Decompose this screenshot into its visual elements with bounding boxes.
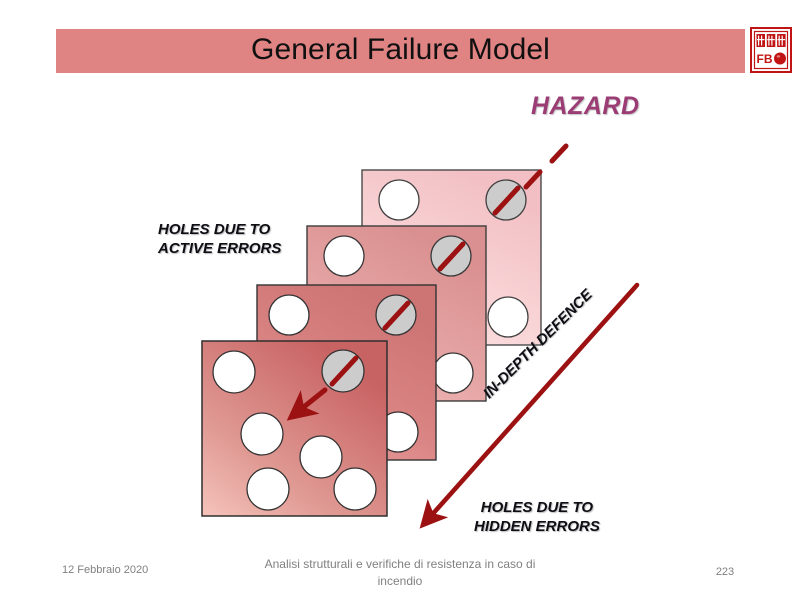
hazard-dashed-trajectory xyxy=(526,146,566,187)
hidden-errors-line2: HIDDEN ERRORS xyxy=(474,517,600,536)
hole-blocked xyxy=(486,180,526,220)
hazard-final-arrow xyxy=(300,390,325,410)
hole-open xyxy=(334,468,376,510)
hazard-dash-segment xyxy=(332,358,356,384)
hole-open xyxy=(488,297,528,337)
in-depth-defence-label: IN-DEPTH DEFENCE xyxy=(480,286,596,402)
fire-safety-engineering-seal-logo: FB xyxy=(750,27,792,73)
hole-open xyxy=(269,295,309,335)
logo-icon: FB xyxy=(750,27,792,73)
active-errors-label: HOLES DUE TO ACTIVE ERRORS xyxy=(158,220,281,258)
active-errors-line2: ACTIVE ERRORS xyxy=(158,239,281,258)
hole-open xyxy=(379,180,419,220)
svg-text:FB: FB xyxy=(757,52,773,66)
in-depth-defence-arrow xyxy=(430,285,637,517)
hole-open xyxy=(247,468,289,510)
hole-open xyxy=(241,413,283,455)
footer-page-number: 223 xyxy=(700,566,750,578)
hole-blocked xyxy=(322,350,364,392)
hazard-dash-segment xyxy=(440,244,463,269)
barrier-layer-3 xyxy=(257,285,436,460)
barrier-layer-2 xyxy=(307,226,486,401)
footer-subtitle: Analisi strutturali e verifiche di resis… xyxy=(250,556,550,590)
barrier-layer-1 xyxy=(362,170,541,345)
hidden-errors-label: HOLES DUE TO HIDDEN ERRORS xyxy=(474,498,600,536)
hole-open xyxy=(378,412,418,452)
hole-open xyxy=(300,436,342,478)
hole-blocked xyxy=(376,295,416,335)
hidden-errors-line1: HOLES DUE TO xyxy=(474,498,600,517)
page-title: General Failure Model xyxy=(56,28,745,72)
hazard-dash-segment xyxy=(385,303,408,328)
hole-open xyxy=(433,353,473,393)
slide-canvas: General Failure Model xyxy=(0,0,800,600)
hazard-label: HAZARD xyxy=(531,92,640,121)
hole-open xyxy=(213,351,255,393)
footer-date: 12 Febbraio 2020 xyxy=(62,564,148,576)
active-errors-line1: HOLES DUE TO xyxy=(158,220,281,239)
hole-blocked xyxy=(431,236,471,276)
swiss-cheese-diagram xyxy=(0,0,800,600)
hole-open xyxy=(324,236,364,276)
barrier-layer-4 xyxy=(202,341,387,516)
hazard-dash-segment xyxy=(495,188,518,213)
